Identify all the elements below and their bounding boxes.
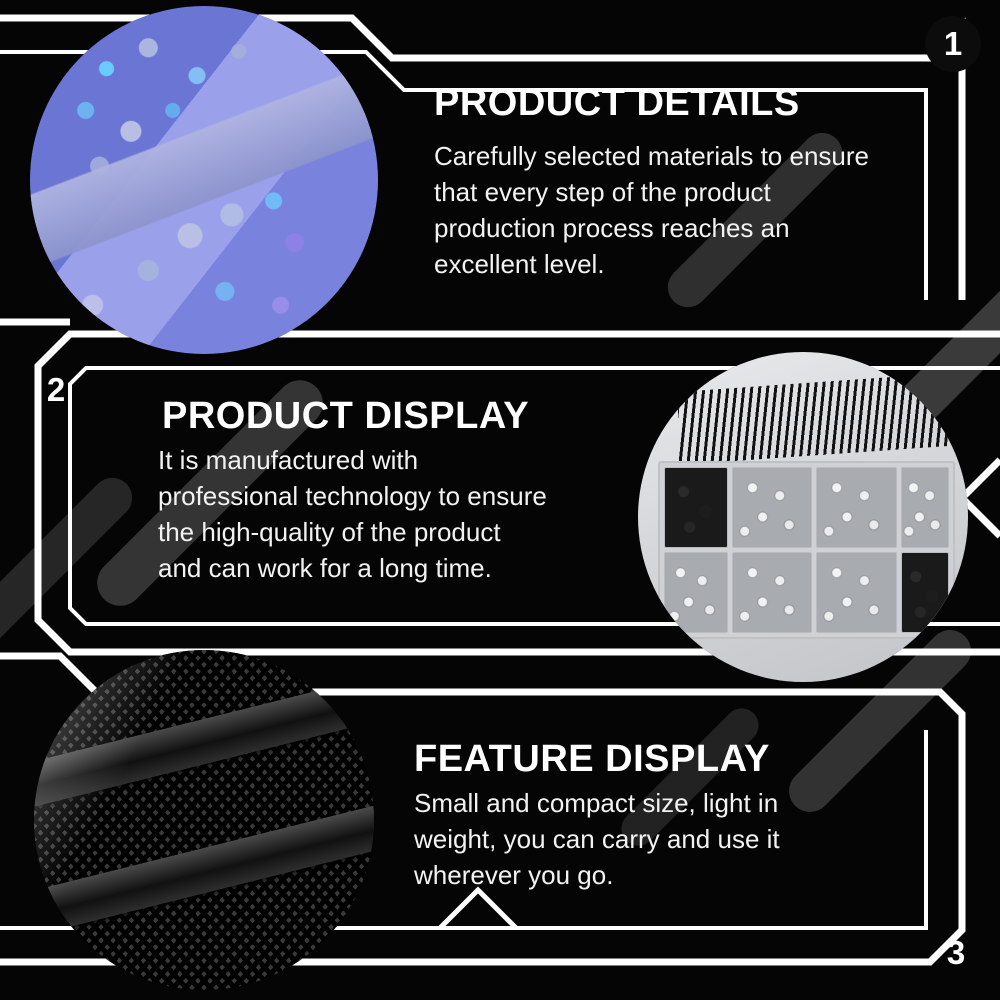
body-line: weight, you can carry and use it (414, 821, 884, 857)
body-line: that every step of the product (434, 174, 954, 210)
section-3-body: Small and compact size, light in weight,… (414, 785, 884, 893)
product-photo-cable-ties (34, 650, 374, 990)
section-2-title: PRODUCT DISPLAY (162, 395, 529, 438)
tray-cell (816, 467, 896, 548)
body-line: Small and compact size, light in (414, 785, 884, 821)
step-badge-1: 1 (925, 16, 981, 72)
tray-cell (732, 552, 812, 633)
body-line: production process reaches an (434, 210, 954, 246)
section-2-body: It is manufactured with professional tec… (158, 442, 638, 586)
body-line: professional technology to ensure (158, 478, 638, 514)
product-photo-screws-tray (30, 6, 378, 354)
infographic-canvas: PRODUCT DETAILS Carefully selected mater… (0, 0, 1000, 1000)
product-photo-assortment-box (638, 352, 968, 682)
section-3-title: FEATURE DISPLAY (414, 738, 770, 781)
photo-content (638, 352, 968, 682)
step-badge-2: 2 (28, 362, 84, 418)
body-line: the high-quality of the product (158, 514, 638, 550)
body-line: Carefully selected materials to ensure (434, 138, 954, 174)
cable-ties-bundle (678, 372, 962, 464)
body-line: and can work for a long time. (158, 550, 638, 586)
tray-cell (901, 467, 949, 548)
section-1-body: Carefully selected materials to ensure t… (434, 138, 954, 282)
body-line: It is manufactured with (158, 442, 638, 478)
step-badge-3: 3 (928, 925, 984, 981)
compartment-tray (658, 461, 955, 639)
section-1-title: PRODUCT DETAILS (434, 82, 800, 125)
tray-cell (664, 467, 728, 548)
photo-highlight (34, 650, 374, 990)
tray-cell (664, 552, 728, 633)
body-line: wherever you go. (414, 857, 884, 893)
tray-cell (732, 467, 812, 548)
tray-cell (901, 552, 949, 633)
body-line: excellent level. (434, 246, 954, 282)
tray-cell (816, 552, 896, 633)
